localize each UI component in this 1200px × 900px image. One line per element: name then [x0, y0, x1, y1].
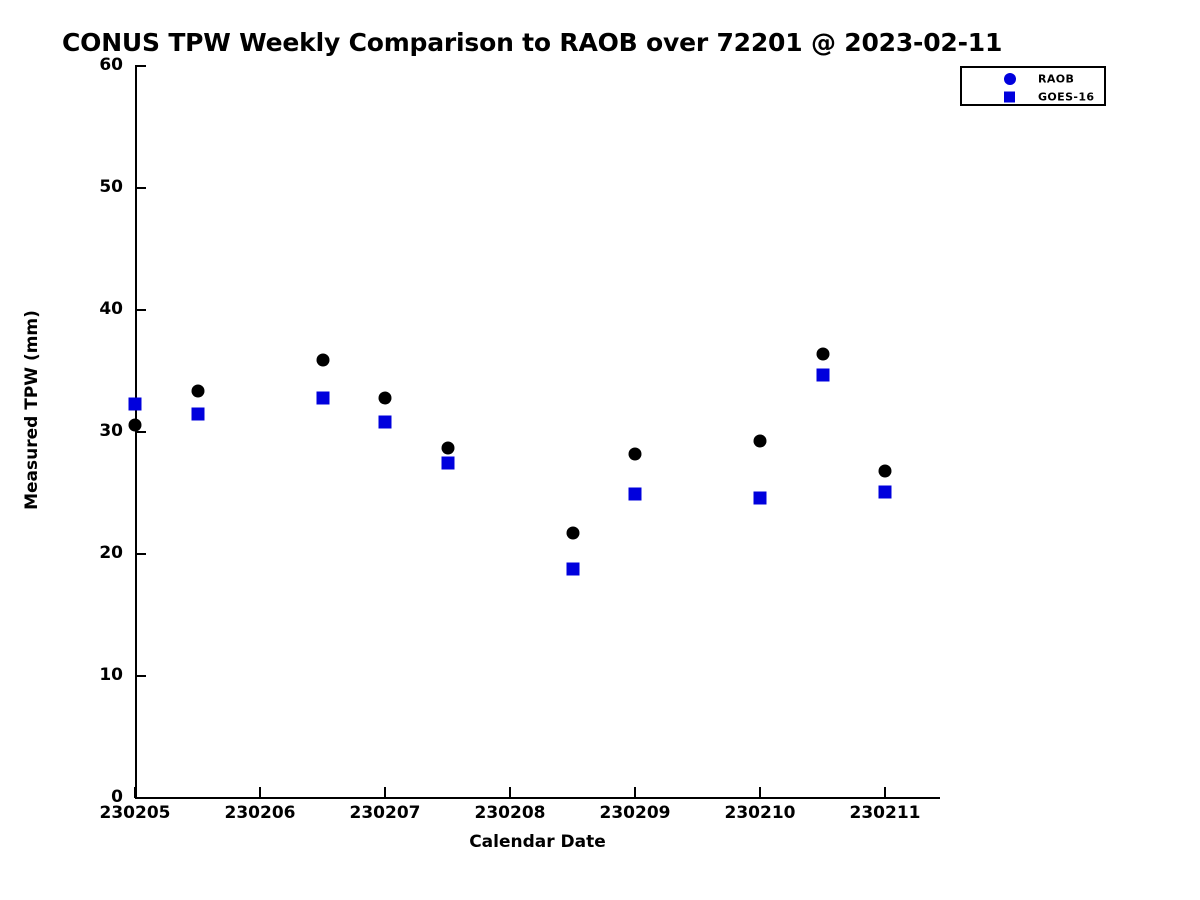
- data-point-raob: [629, 447, 642, 460]
- x-axis-tick-label: 230208: [445, 803, 575, 823]
- x-axis-tick-label: 230206: [195, 803, 325, 823]
- y-axis-tick-label: 40: [63, 299, 123, 319]
- x-axis-tick-label: 230211: [820, 803, 950, 823]
- legend-label-goes16: GOES-16: [1038, 91, 1095, 104]
- data-point-goes-16: [316, 391, 329, 404]
- legend-entry-goes16[interactable]: GOES-16: [962, 88, 1104, 106]
- data-point-goes-16: [816, 368, 829, 381]
- data-point-goes-16: [379, 416, 392, 429]
- chart-figure: CONUS TPW Weekly Comparison to RAOB over…: [0, 0, 1200, 900]
- y-axis-tick-label: 10: [63, 665, 123, 685]
- data-point-goes-16: [566, 562, 579, 575]
- chart-title: CONUS TPW Weekly Comparison to RAOB over…: [62, 28, 1002, 57]
- legend-entry-raob[interactable]: RAOB: [962, 70, 1104, 88]
- x-axis-tick-label: 230207: [320, 803, 450, 823]
- y-axis-label: Measured TPW (mm): [22, 110, 42, 710]
- chart-legend: RAOB GOES-16: [960, 66, 1106, 106]
- goes16-legend-marker-icon: [1004, 92, 1015, 103]
- plot-area: [135, 66, 940, 798]
- data-point-goes-16: [129, 397, 142, 410]
- data-point-goes-16: [754, 491, 767, 504]
- x-axis-tick-label: 230205: [70, 803, 200, 823]
- y-axis-tick-label: 30: [63, 421, 123, 441]
- data-point-goes-16: [879, 485, 892, 498]
- raob-legend-marker-icon: [1004, 73, 1016, 85]
- data-point-goes-16: [629, 488, 642, 501]
- data-point-raob: [754, 434, 767, 447]
- x-axis-label: Calendar Date: [135, 832, 940, 852]
- x-axis-tick-label: 230210: [695, 803, 825, 823]
- y-axis-tick-label: 60: [63, 55, 123, 75]
- data-point-raob: [816, 347, 829, 360]
- y-axis-tick-label: 20: [63, 543, 123, 563]
- data-point-raob: [566, 527, 579, 540]
- data-point-raob: [879, 465, 892, 478]
- data-point-raob: [441, 441, 454, 454]
- x-axis-tick-label: 230209: [570, 803, 700, 823]
- data-point-raob: [316, 354, 329, 367]
- data-point-raob: [191, 384, 204, 397]
- data-point-goes-16: [191, 407, 204, 420]
- data-point-goes-16: [441, 456, 454, 469]
- y-axis-tick-label: 50: [63, 177, 123, 197]
- legend-label-raob: RAOB: [1038, 73, 1074, 86]
- data-point-raob: [379, 391, 392, 404]
- data-point-raob: [129, 418, 142, 431]
